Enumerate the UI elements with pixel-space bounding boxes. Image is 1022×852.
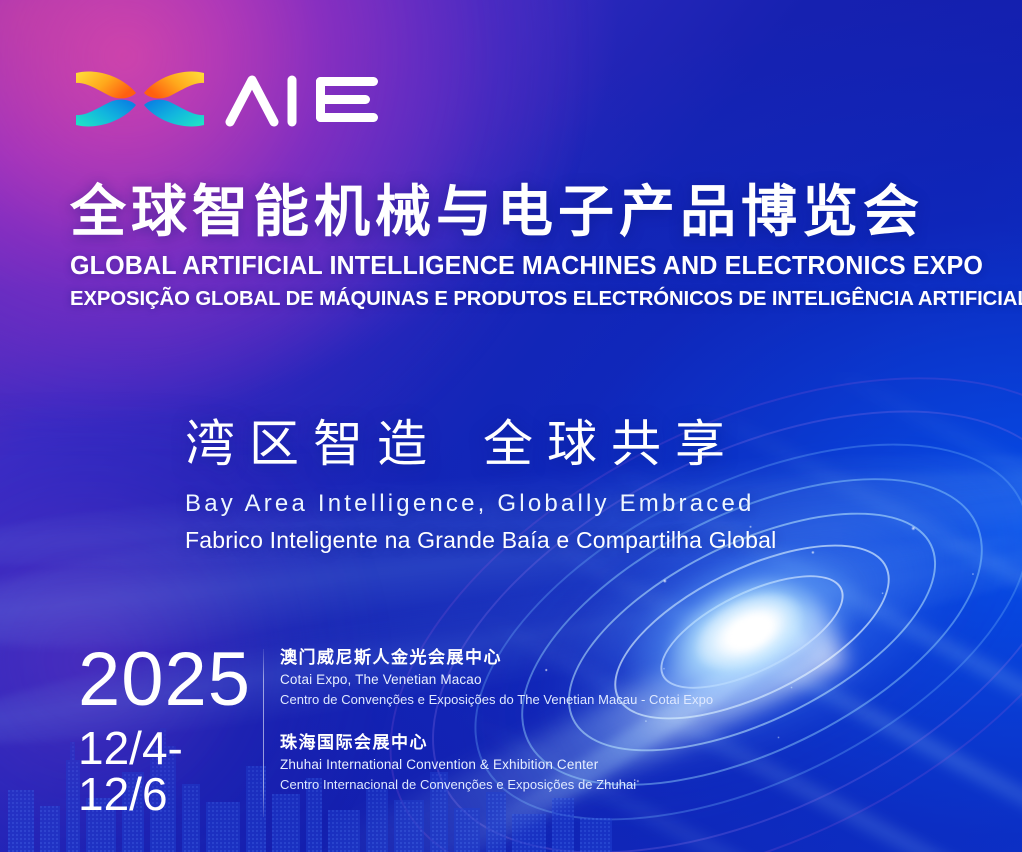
venue-item: 澳门威尼斯人金光会展中心 Cotai Expo, The Venetian Ma… [280,647,713,710]
event-date-range: 12/4-12/6 [78,725,263,817]
venue-name-english: Cotai Expo, The Venetian Macao [280,670,713,690]
slogan-block: 湾区智造全球共享 Bay Area Intelligence, Globally… [185,404,885,554]
venue-item: 珠海国际会展中心 Zhuhai International Convention… [280,732,713,795]
vertical-divider [263,649,264,817]
date-block: 2025 12/4-12/6 [78,645,263,817]
aie-wordmark-icon [224,70,392,128]
slogan-chinese-right: 全球共享 [483,416,739,472]
slogan-chinese-left: 湾区智造 [185,416,441,472]
headline-chinese: 全球智能机械与电子产品博览会 [70,182,970,242]
venue-name-chinese: 珠海国际会展中心 [280,732,713,755]
venue-list: 澳门威尼斯人金光会展中心 Cotai Expo, The Venetian Ma… [280,645,713,794]
brand-logo[interactable]: AIE [74,58,392,140]
event-poster: AIE 全球智能机械与电子产品博览会 GLOBAL ARTIFICIAL INT… [0,0,1022,852]
aie-butterfly-logo-icon [74,58,206,140]
event-year: 2025 [78,645,263,715]
event-details-block: 2025 12/4-12/6 澳门威尼斯人金光会展中心 Cotai Expo, … [78,645,713,817]
headline-english: GLOBAL ARTIFICIAL INTELLIGENCE MACHINES … [70,252,957,281]
headline-block: 全球智能机械与电子产品博览会 GLOBAL ARTIFICIAL INTELLI… [70,182,970,311]
venue-name-english: Zhuhai International Convention & Exhibi… [280,755,713,775]
slogan-portuguese: Fabrico Inteligente na Grande Baía e Com… [185,527,885,554]
headline-portuguese: EXPOSIÇÃO GLOBAL DE MÁQUINAS E PRODUTOS … [70,287,961,311]
slogan-chinese: 湾区智造全球共享 [185,404,885,476]
venue-name-portuguese: Centro Internacional de Convenções e Exp… [280,775,713,795]
slogan-english: Bay Area Intelligence, Globally Embraced [185,490,885,518]
venue-name-chinese: 澳门威尼斯人金光会展中心 [280,647,713,670]
venue-name-portuguese: Centro de Convenções e Exposições do The… [280,690,713,710]
